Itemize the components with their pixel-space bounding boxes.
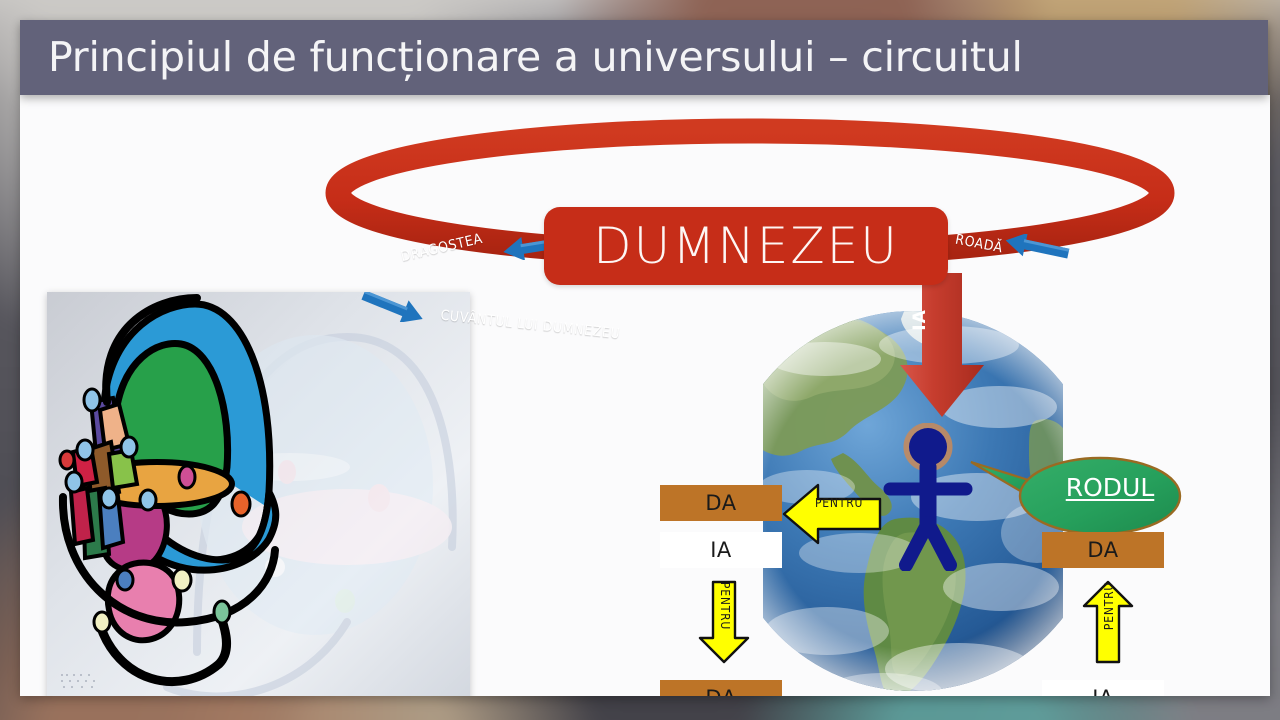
pentru-label-left: PENTRU	[718, 582, 732, 630]
dumnezeu-box: DUMNEZEU	[544, 207, 948, 285]
slide-content-area: DRAGOSTEA ROADĂ CUVÂNTUL LUI DUMNEZEU	[20, 95, 1270, 696]
page-title: Principiul de funcționare a universului …	[48, 33, 1023, 81]
flow-box-da-top-right: DA	[1042, 532, 1164, 568]
rodul-label: RODUL	[1062, 473, 1158, 502]
pentru-arrow-left-icon	[782, 483, 882, 550]
descent-arrow-label: IA	[910, 296, 930, 344]
abstract-nested-loops-illustration	[47, 292, 470, 696]
blue-arrow-bottom-icon	[359, 292, 427, 327]
pentru-label-top: PENTRU	[815, 496, 863, 510]
flow-box-da-top-left: DA	[660, 485, 782, 521]
flow-box-ia-bottom-right: IA	[1042, 680, 1164, 696]
blue-arrow-right-icon	[1003, 234, 1071, 265]
slide-title-banner: Principiul de funcționare a universului …	[20, 20, 1268, 95]
pentru-label-right: PENTRU	[1102, 582, 1116, 630]
presentation-slide: Principiul de funcționare a universului …	[20, 20, 1270, 696]
flow-box-da-bottom-left: DA	[660, 680, 782, 696]
person-figure-icon	[882, 423, 974, 576]
dumnezeu-label: DUMNEZEU	[593, 217, 899, 275]
flow-box-ia-top-left: IA	[660, 532, 782, 568]
